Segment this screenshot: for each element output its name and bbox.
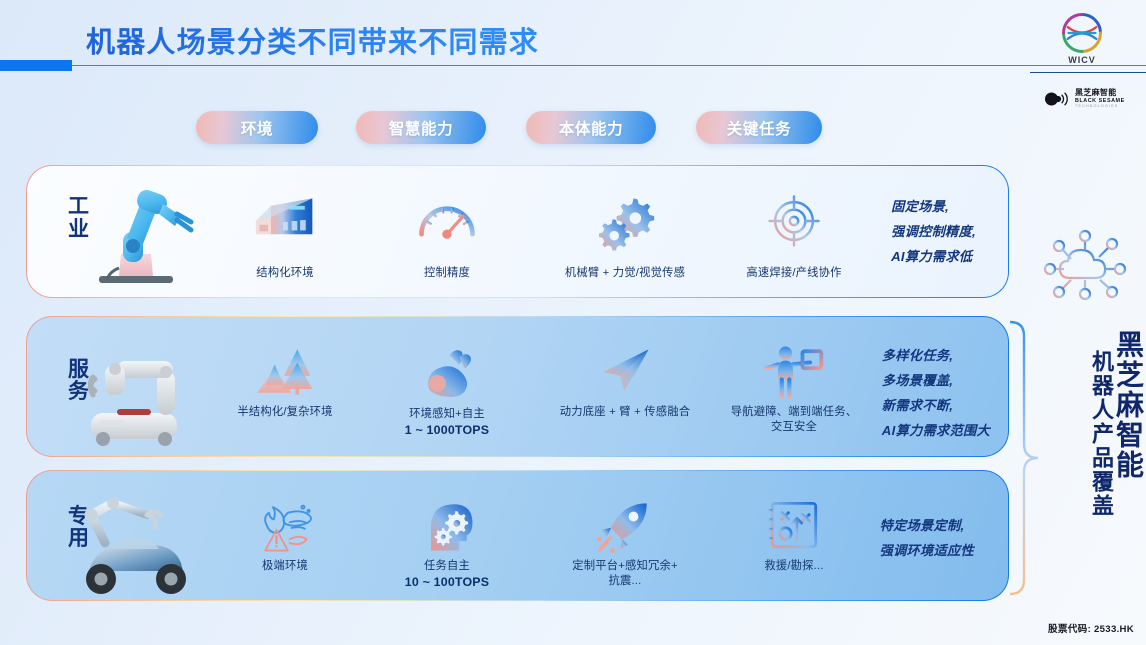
strategy-board-icon: [761, 493, 827, 559]
cell-caption: 环境感知+自主: [409, 407, 485, 422]
pill-intelligence[interactable]: 智慧能力: [356, 111, 486, 144]
cell-structured-environment: 结构化环境: [223, 188, 347, 281]
industrial-robot-arm-icon: [75, 180, 203, 292]
black-sesame-wordmark: 黑芝麻智能 BLACK SESAME TECHNOLOGIES: [1075, 89, 1125, 109]
cell-caption-strong: 10 ~ 100TOPS: [405, 575, 490, 589]
gauge-precision-icon: [414, 188, 480, 254]
cell-caption: 结构化环境: [256, 266, 314, 281]
cell-caption: 动力底座 + 臂 + 传感融合: [560, 405, 690, 420]
cell-caption: 定制平台+感知冗余+ 抗震...: [572, 559, 678, 589]
cell-caption: 机械臂 + 力觉/视觉传感: [565, 266, 685, 281]
cell-perception-autonomy: 环境感知+自主 1 ~ 1000TOPS: [385, 341, 509, 437]
category-row-special: 专用: [26, 470, 1009, 601]
stock-ticker: 股票代码: 2533.HK: [1048, 621, 1134, 635]
wicv-logo: WICV: [1055, 12, 1109, 65]
rail-coverage-text: 机器人产品覆盖: [1090, 350, 1112, 620]
wicv-logo-icon: [1061, 12, 1103, 54]
cell-control-precision: 控制精度: [385, 188, 509, 281]
row-note-special: 特定场景定制, 强调环境适应性: [880, 515, 974, 559]
cell-custom-platform-redundancy: 定制平台+感知冗余+ 抗震...: [530, 493, 720, 589]
pill-environment[interactable]: 环境: [196, 111, 318, 144]
category-row-industrial: 工业: [26, 165, 1009, 298]
cell-task-autonomy: 任务自主 10 ~ 100TOPS: [385, 493, 509, 589]
mobile-service-robot-icon: [65, 335, 205, 450]
note-line: 强调环境适应性: [880, 540, 974, 559]
row-note-industrial: 固定场景, 强调控制精度, AI算力需求低: [891, 196, 976, 265]
cell-caption: 半结构化/复杂环境: [237, 405, 332, 420]
factory-building-icon: [252, 188, 318, 254]
head-with-gears-icon: [414, 493, 480, 559]
cell-welding-line-collab: 高速焊接/产线协作: [699, 188, 889, 281]
person-with-screen-icon: [761, 339, 827, 405]
note-line: AI算力需求范围大: [882, 420, 990, 439]
cell-caption: 极端环境: [262, 559, 308, 574]
cloud-network-nodes-icon: [1042, 226, 1128, 312]
pill-body-capability[interactable]: 本体能力: [526, 111, 656, 144]
target-crosshair-icon: [761, 188, 827, 254]
cell-caption: 救援/勘探...: [764, 559, 823, 574]
note-line: 强调控制精度,: [891, 221, 976, 240]
row-note-service: 多样化任务, 多场景覆盖, 新需求不断, AI算力需求范围大: [882, 345, 990, 439]
pill-key-task[interactable]: 关键任务: [696, 111, 822, 144]
category-row-service: 服务: [26, 316, 1009, 457]
cell-caption: 导航避障、端到端任务、 交互安全: [731, 405, 857, 435]
black-sesame-logo: 黑芝麻智能 BLACK SESAME TECHNOLOGIES: [1044, 86, 1134, 112]
cell-arm-force-vision: 机械臂 + 力觉/视觉传感: [530, 188, 720, 281]
cell-caption: 高速焊接/产线协作: [746, 266, 841, 281]
page-title: 机器人场景分类不同带来不同需求: [86, 19, 539, 61]
cell-mobile-base-arm-fusion: 动力底座 + 臂 + 传感融合: [530, 339, 720, 420]
title-underline: [72, 65, 1146, 67]
note-line: 特定场景定制,: [880, 515, 965, 534]
title-accent-block: [0, 60, 72, 71]
note-line: 多场景覆盖,: [882, 370, 953, 389]
rabbit-icon: [414, 341, 480, 407]
note-line: 新需求不断,: [882, 395, 953, 414]
coverage-bracket: [1006, 318, 1042, 598]
hazard-extreme-environment-icon: [252, 493, 318, 559]
cell-extreme-environment: 极端环境: [223, 493, 347, 574]
cell-semi-structured-env: 半结构化/复杂环境: [223, 339, 347, 420]
gears-icon: [592, 188, 658, 254]
bst-name-cn: 黑芝麻智能: [1075, 89, 1125, 97]
wicv-logo-label: WICV: [1055, 55, 1109, 65]
rail-brand-text: 黑芝麻智能: [1114, 330, 1142, 620]
cell-caption: 任务自主: [424, 559, 470, 574]
rail-vertical-text: 黑芝麻智能 机器人产品覆盖: [1038, 330, 1142, 620]
rover-robot-icon: [65, 493, 205, 601]
bst-name-sub: TECHNOLOGIES: [1075, 105, 1125, 109]
rocket-icon: [592, 493, 658, 559]
note-line: 多样化任务,: [882, 345, 953, 364]
bst-name-en: BLACK SESAME: [1075, 99, 1125, 104]
forest-mountain-icon: [252, 339, 318, 405]
cell-caption-strong: 1 ~ 1000TOPS: [405, 423, 490, 437]
slide-canvas: 机器人场景分类不同带来不同需求 WICV: [0, 0, 1146, 645]
note-line: AI算力需求低: [891, 246, 972, 265]
logo-divider: [1030, 72, 1146, 73]
note-line: 固定场景,: [891, 196, 949, 215]
paper-plane-icon: [592, 339, 658, 405]
black-sesame-logo-icon: [1044, 90, 1070, 108]
cell-navigation-safety: 导航避障、端到端任务、 交互安全: [699, 339, 889, 435]
cell-rescue-exploration: 救援/勘探...: [699, 493, 889, 574]
cell-caption: 控制精度: [424, 266, 470, 281]
